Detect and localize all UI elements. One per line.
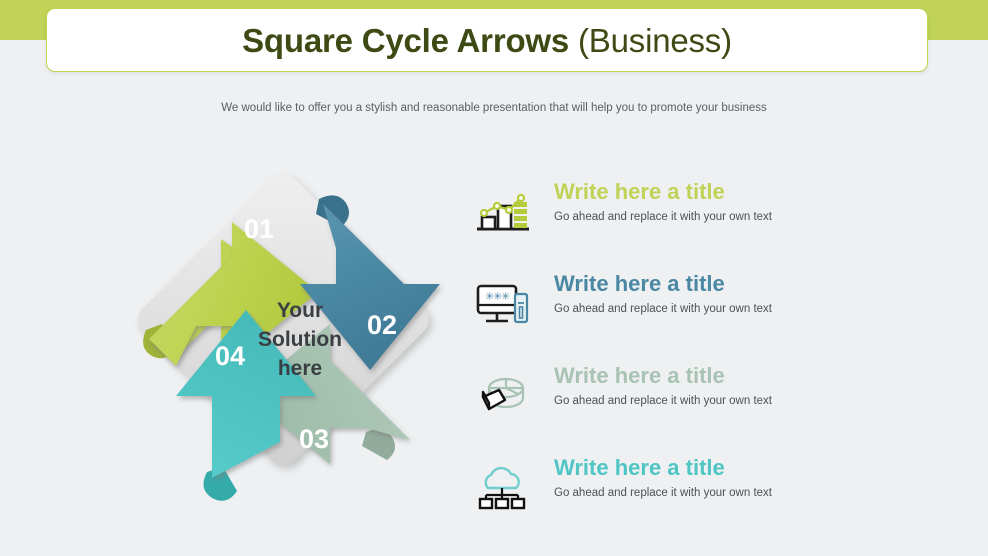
- svg-text:✳: ✳: [501, 291, 510, 303]
- page-title-suffix: (Business): [569, 22, 732, 59]
- arrow-03-label: 03: [299, 424, 329, 454]
- list-item-desc: Go ahead and replace it with your own te…: [554, 395, 970, 407]
- bar-chart-trend-icon: [472, 186, 534, 238]
- arrow-02-label: 02: [367, 310, 397, 340]
- page-subtitle: We would like to offer you a stylish and…: [0, 102, 988, 114]
- arrow-04-label: 04: [215, 341, 245, 371]
- page-title-main: Square Cycle Arrows: [242, 22, 569, 59]
- list-item[interactable]: Write here a title Go ahead and replace …: [470, 456, 970, 540]
- list-item[interactable]: Write here a title Go ahead and replace …: [470, 180, 970, 264]
- feature-list: Write here a title Go ahead and replace …: [470, 172, 970, 540]
- desktop-monitor-icon: ✳✳✳: [472, 278, 534, 330]
- center-label-line2: Solution: [258, 328, 342, 351]
- page-title: Square Cycle Arrows (Business): [242, 24, 732, 57]
- list-item-desc: Go ahead and replace it with your own te…: [554, 303, 970, 315]
- list-item-desc: Go ahead and replace it with your own te…: [554, 487, 970, 499]
- arrow-01-label: 01: [244, 214, 274, 244]
- list-item[interactable]: ✳✳✳ Write here a title Go ahead and repl…: [470, 272, 970, 356]
- title-card: Square Cycle Arrows (Business): [46, 8, 928, 72]
- cycle-arrows-diagram: 01 02 03 04 Your Solution here: [104, 152, 464, 520]
- list-item-title: Write here a title: [554, 456, 970, 480]
- list-item-title: Write here a title: [554, 272, 970, 296]
- list-item-title: Write here a title: [554, 180, 970, 204]
- pie-chart-3d-icon: [472, 370, 534, 422]
- center-label-line3: here: [278, 357, 322, 380]
- list-item-desc: Go ahead and replace it with your own te…: [554, 211, 970, 223]
- list-item-title: Write here a title: [554, 364, 970, 388]
- center-label-line1: Your: [277, 299, 323, 322]
- cloud-network-icon: [472, 462, 534, 514]
- list-item[interactable]: Write here a title Go ahead and replace …: [470, 364, 970, 448]
